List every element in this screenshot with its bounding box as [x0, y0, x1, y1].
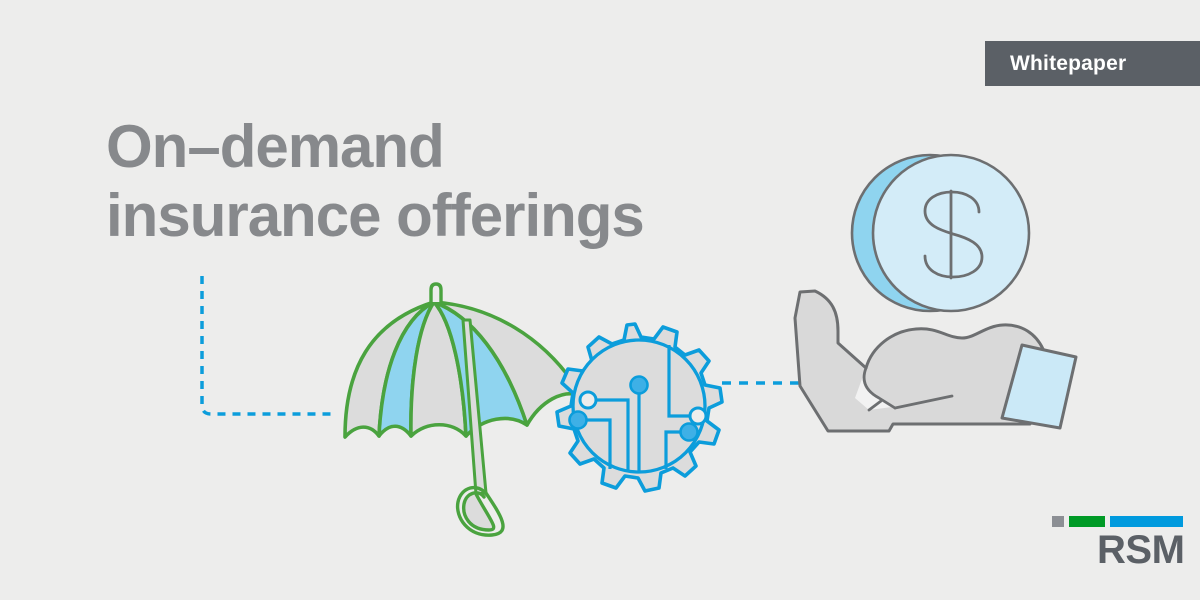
dollar-sign-glyph — [925, 191, 982, 278]
coin-back-disc — [852, 155, 1008, 311]
sleeve-cuff — [1002, 345, 1076, 428]
whitepaper-badge: Whitepaper — [985, 41, 1200, 86]
page-title-line-1: On–demand — [106, 112, 746, 181]
hand-icon — [795, 291, 1076, 431]
circuit-node-filled-left — [570, 412, 587, 429]
circuit-node-hollow-right — [690, 408, 706, 424]
dashed-elbow-left — [202, 276, 332, 414]
cover-illustration — [0, 0, 1200, 600]
circuit-node-filled-lower-right — [681, 424, 698, 441]
page-title: On–demand insurance offerings — [106, 112, 746, 250]
rsm-logo-bar-gray — [1052, 516, 1064, 527]
rsm-logo-bars — [1052, 516, 1183, 527]
coin-front-disc — [873, 155, 1029, 311]
gear-circuit-icon — [557, 324, 722, 491]
rsm-logo-bar-blue — [1110, 516, 1183, 527]
circuit-node-filled-top — [631, 377, 648, 394]
umbrella-icon — [345, 284, 582, 535]
circuit-node-hollow-upper-left — [580, 392, 596, 408]
whitepaper-badge-label: Whitepaper — [1010, 53, 1126, 74]
rsm-logo-wordmark: RSM — [1097, 530, 1184, 570]
rsm-logo: RSM — [1052, 516, 1186, 572]
coin-icon — [852, 155, 1029, 311]
rsm-logo-bar-green — [1069, 516, 1105, 527]
page-title-line-2: insurance offerings — [106, 181, 746, 250]
whitepaper-cover: Whitepaper On–demand insurance offerings… — [0, 0, 1200, 600]
